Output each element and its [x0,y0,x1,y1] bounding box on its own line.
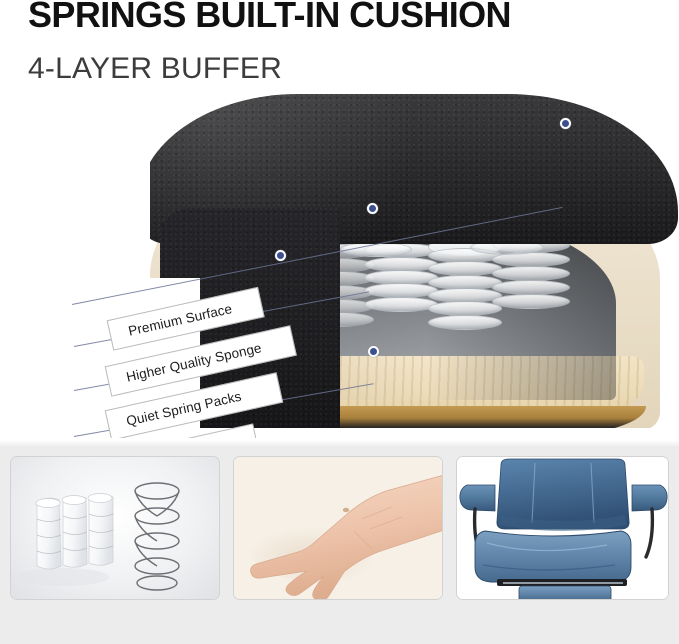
spring-coil [428,315,502,330]
callout-dot-quiet-spring-packs[interactable] [275,250,286,261]
feature-panel-cushion-springs[interactable]: Cushion Springs [10,456,220,600]
blue-office-chair-image [457,457,669,600]
scene-mask-left-top [0,88,150,288]
header: SPRINGS BUILT-IN CUSHION 4-LAYER BUFFER [0,0,679,100]
callout-dot-premium-surface[interactable] [560,118,571,129]
scene-mask-bottom [0,428,679,438]
page-title: SPRINGS BUILT-IN CUSHION [28,0,511,36]
feature-panels-strip: Cushion Springs [0,448,679,644]
hand-pressing-foam-image [234,457,443,600]
spring-coil [492,266,570,281]
cushion-springs-image [11,457,220,600]
page-subtitle: 4-LAYER BUFFER [28,52,282,86]
feature-panel-resilient-foam[interactable]: High-QualityResilient Foam [233,456,443,600]
cushion-cutaway-diagram: Premium Surface Higher Quality Sponge Qu… [0,88,679,438]
spring-coil [364,297,438,312]
section-divider [0,440,679,448]
feature-panel-seat-cushion[interactable]: Extra-Thick Saddle-Shaped Seat Cushion [456,456,669,600]
spring-coil [492,280,570,295]
callout-dot-sturdy-planks[interactable] [368,346,379,357]
callout-dot-higher-quality-sponge[interactable] [367,203,378,214]
spring-coil [492,294,570,309]
